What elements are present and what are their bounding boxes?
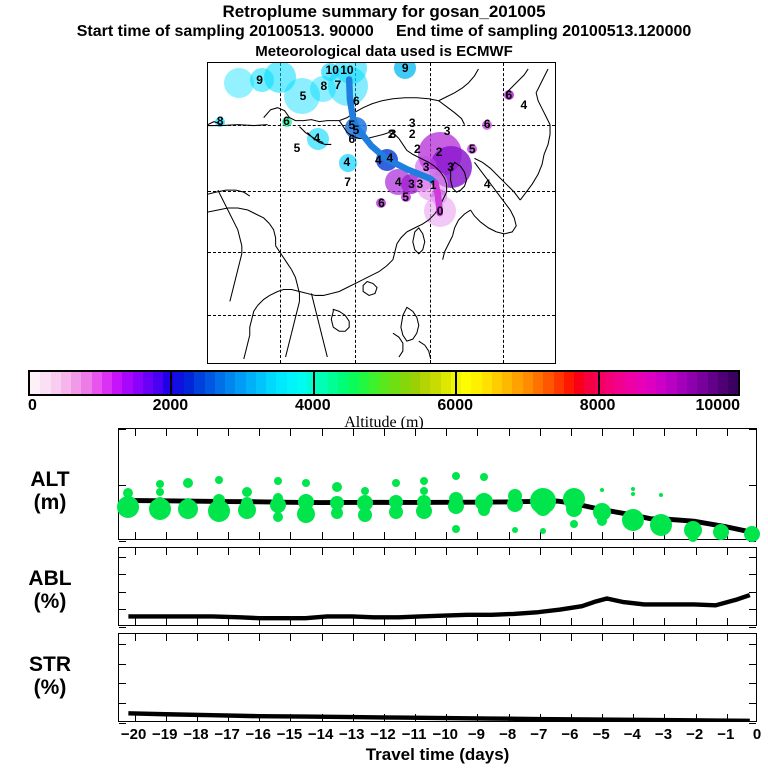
colorbar-cell <box>51 372 61 394</box>
map-day-label: 5 <box>300 90 307 102</box>
x-tick-top <box>509 429 510 436</box>
x-tick <box>166 618 167 625</box>
map-day-label: 4 <box>375 154 382 166</box>
colorbar-cell <box>194 372 204 394</box>
trajectory-line <box>208 63 555 363</box>
colorbar-tick-label: 2000 <box>153 397 189 415</box>
y-tick-right <box>749 574 756 575</box>
map-day-label: 6 <box>378 197 385 209</box>
colorbar-cell <box>317 372 327 394</box>
colorbar-cell <box>461 372 471 394</box>
alt-bubble <box>297 505 315 523</box>
alt-bubble <box>570 520 578 528</box>
x-tick <box>477 532 478 539</box>
alt-plot-panel[interactable]: 0500010000 <box>118 428 757 540</box>
alt-bubble <box>622 509 644 531</box>
colorbar-cell <box>287 372 297 394</box>
x-tick-top <box>197 634 198 641</box>
alt-bubble <box>600 488 604 492</box>
map-day-label: 3 <box>390 128 397 140</box>
x-tick-top <box>384 429 385 436</box>
alt-bubble <box>512 527 518 533</box>
alt-bubble <box>478 504 490 516</box>
y-tick <box>119 485 126 486</box>
alt-bubble <box>332 482 342 492</box>
colorbar-cell <box>543 372 553 394</box>
str-row-label: STR (%) <box>8 653 92 699</box>
x-tick <box>353 618 354 625</box>
x-tick <box>166 532 167 539</box>
x-axis-tick-label: −6 <box>561 726 578 743</box>
y-tick <box>119 557 126 558</box>
x-tick <box>290 714 291 721</box>
x-tick <box>540 618 541 625</box>
map-day-label: 2 <box>409 128 416 140</box>
alt-bubble <box>448 498 464 514</box>
x-tick <box>509 618 510 625</box>
x-tick-top <box>166 548 167 555</box>
title-block: Retroplume summary for gosan_201005 Star… <box>0 2 768 61</box>
map-day-label: 3 <box>408 178 415 190</box>
x-axis-tick-label: −9 <box>468 726 485 743</box>
map-day-label: 4 <box>344 156 351 168</box>
colorbar-cell <box>728 372 738 394</box>
x-tick <box>509 532 510 539</box>
x-tick <box>664 618 665 625</box>
x-tick-top <box>540 548 541 555</box>
map-day-label: 5 <box>402 191 409 203</box>
map-day-label: 9 <box>256 74 263 86</box>
colorbar-cell <box>410 372 420 394</box>
retroplume-map[interactable]: 9101087569865564544473232322335664433156… <box>207 62 556 364</box>
x-tick-top <box>509 548 510 555</box>
colorbar-cell <box>482 372 492 394</box>
map-day-label: 8 <box>217 115 224 127</box>
x-tick-top <box>384 634 385 641</box>
x-tick <box>602 532 603 539</box>
x-tick-top <box>664 429 665 436</box>
colorbar-cell <box>492 372 502 394</box>
x-tick <box>664 714 665 721</box>
colorbar-cell <box>554 372 564 394</box>
colorbar-cell <box>646 372 656 394</box>
x-tick-top <box>290 634 291 641</box>
x-axis-tick-label: −15 <box>277 726 302 743</box>
x-tick-top <box>259 548 260 555</box>
x-tick <box>197 618 198 625</box>
x-tick-top <box>540 429 541 436</box>
colorbar-cell <box>143 372 153 394</box>
colorbar-cell <box>708 372 718 394</box>
x-tick-top <box>727 429 728 436</box>
x-tick <box>602 618 603 625</box>
colorbar-cell <box>256 372 266 394</box>
map-day-label: 1 <box>430 179 437 191</box>
colorbar-cell <box>687 372 697 394</box>
y-tick <box>119 541 126 542</box>
colorbar-cell <box>71 372 81 394</box>
y-tick-right <box>749 664 756 665</box>
alt-bubble <box>242 487 252 497</box>
x-axis-tick-label: −7 <box>530 726 547 743</box>
colorbar-cell <box>400 372 410 394</box>
alt-bubble <box>540 528 546 534</box>
x-tick <box>633 714 634 721</box>
y-tick <box>119 429 126 430</box>
x-tick <box>696 618 697 625</box>
x-tick-top <box>166 429 167 436</box>
colorbar-cell <box>636 372 646 394</box>
map-day-label: 5 <box>469 143 476 155</box>
x-tick <box>135 532 136 539</box>
map-day-label: 4 <box>386 152 393 164</box>
x-axis-tick-label: −2 <box>686 726 703 743</box>
x-tick <box>477 714 478 721</box>
alt-bubble <box>688 532 698 542</box>
x-tick <box>727 714 728 721</box>
y-tick-right <box>749 609 756 610</box>
colorbar-cell <box>235 372 245 394</box>
x-tick <box>228 714 229 721</box>
x-tick-top <box>290 429 291 436</box>
x-tick <box>540 714 541 721</box>
x-axis-tick-labels: −20−19−18−17−16−15−14−13−12−11−10−9−8−7−… <box>118 726 757 746</box>
page-title: Retroplume summary for gosan_201005 <box>0 2 768 22</box>
map-day-label: 2 <box>436 146 443 158</box>
x-axis-tick-label: −12 <box>370 726 395 743</box>
alt-bubble <box>416 503 432 519</box>
x-tick-top <box>477 429 478 436</box>
map-day-label: 2 <box>414 143 421 155</box>
alt-bubble <box>117 496 139 518</box>
x-tick-top <box>540 634 541 641</box>
colorbar-cell <box>389 372 399 394</box>
x-tick-top <box>477 634 478 641</box>
x-tick-top <box>135 634 136 641</box>
alt-bubble <box>273 512 283 522</box>
x-tick-top <box>509 634 510 641</box>
colorbar-tick-label: 6000 <box>437 397 473 415</box>
colorbar-cell <box>420 372 430 394</box>
x-axis-tick-label: −3 <box>655 726 672 743</box>
y-tick-right <box>749 723 756 724</box>
x-tick <box>415 618 416 625</box>
y-tick-right <box>749 485 756 486</box>
colorbar-separator <box>170 370 172 396</box>
colorbar-cell <box>153 372 163 394</box>
map-day-label: 8 <box>321 80 328 92</box>
alt-bubble <box>238 501 256 519</box>
x-tick <box>322 532 323 539</box>
colorbar-cell <box>677 372 687 394</box>
alt-bubble <box>392 479 400 487</box>
x-tick-top <box>353 429 354 436</box>
x-tick-top <box>415 548 416 555</box>
x-tick <box>228 618 229 625</box>
x-tick <box>228 532 229 539</box>
alt-bubble <box>713 524 729 540</box>
colorbar-cell <box>379 372 389 394</box>
alt-bubble <box>302 479 310 487</box>
colorbar-tick-label: 4000 <box>295 397 331 415</box>
x-tick <box>290 532 291 539</box>
alt-bubble <box>420 487 428 495</box>
alt-bubble <box>566 501 582 517</box>
alt-bubble <box>650 514 672 536</box>
alt-bubble <box>480 473 488 481</box>
alt-bubble <box>659 493 663 497</box>
abl-polyline <box>128 595 749 618</box>
colorbar-cell <box>266 372 276 394</box>
alt-bubble <box>270 497 286 513</box>
alt-bubble <box>631 492 635 496</box>
x-tick-top <box>571 429 572 436</box>
map-day-label: 3 <box>447 161 454 173</box>
alt-bubble <box>178 499 198 519</box>
alt-bubble <box>597 516 607 526</box>
alt-bubble <box>149 498 171 520</box>
colorbar-cell <box>471 372 481 394</box>
colorbar-cell <box>369 372 379 394</box>
x-tick <box>571 618 572 625</box>
x-axis-tick-label: −16 <box>246 726 271 743</box>
x-tick-top <box>166 634 167 641</box>
x-tick <box>166 714 167 721</box>
colorbar-cell <box>328 372 338 394</box>
alt-bubble <box>389 505 403 519</box>
colorbar-cell <box>215 372 225 394</box>
colorbar-cell <box>297 372 307 394</box>
colorbar-cell <box>92 372 102 394</box>
x-tick <box>384 618 385 625</box>
y-tick-right <box>749 429 756 430</box>
colorbar-cell <box>605 372 615 394</box>
colorbar-cell <box>359 372 369 394</box>
x-tick <box>384 532 385 539</box>
x-axis-tick-label: −8 <box>499 726 516 743</box>
colorbar-separator <box>598 370 600 396</box>
x-tick <box>384 714 385 721</box>
meteorological-data-line: Meteorological data used is ECMWF <box>0 42 768 61</box>
x-tick-top <box>446 429 447 436</box>
str-polyline <box>128 713 749 721</box>
x-tick <box>259 532 260 539</box>
x-axis-tick-label: −11 <box>402 726 427 743</box>
x-tick-top <box>259 634 260 641</box>
colorbar-cell <box>523 372 533 394</box>
alt-bubble <box>452 472 460 480</box>
colorbar-cell <box>40 372 50 394</box>
x-tick-top <box>477 548 478 555</box>
x-tick <box>135 714 136 721</box>
colorbar-tick-label: 0 <box>28 397 37 415</box>
x-tick-top <box>602 429 603 436</box>
x-tick-top <box>696 429 697 436</box>
x-tick-top <box>322 429 323 436</box>
colorbar-tick-label: 10000 <box>696 397 741 415</box>
colorbar-cell <box>512 372 522 394</box>
colorbar-cell <box>441 372 451 394</box>
colorbar-cell <box>718 372 728 394</box>
y-tick-right <box>749 703 756 704</box>
y-tick-right <box>749 644 756 645</box>
x-tick-top <box>135 548 136 555</box>
x-tick-top <box>727 548 728 555</box>
x-axis-tick-label: −19 <box>152 726 177 743</box>
alt-bubble <box>361 487 369 495</box>
colorbar-separator <box>455 370 457 396</box>
x-tick-top <box>633 548 634 555</box>
y-tick <box>119 703 126 704</box>
colorbar-cell <box>656 372 666 394</box>
x-tick-top <box>664 634 665 641</box>
map-day-label: 7 <box>344 176 351 188</box>
alt-bubble <box>420 477 428 485</box>
x-axis-tick-label: −5 <box>593 726 610 743</box>
colorbar-cell <box>584 372 594 394</box>
x-tick <box>446 532 447 539</box>
x-tick <box>135 618 136 625</box>
x-tick <box>696 714 697 721</box>
x-tick <box>571 714 572 721</box>
colorbar-cell <box>595 372 605 394</box>
x-axis-tick-label: −1 <box>717 726 734 743</box>
alt-bubble <box>183 478 193 488</box>
alt-bubble <box>274 477 282 485</box>
x-tick-top <box>446 548 447 555</box>
x-tick <box>602 714 603 721</box>
colorbar-cell <box>122 372 132 394</box>
x-tick-top <box>571 634 572 641</box>
y-tick <box>119 644 126 645</box>
alt-bubble <box>452 525 460 533</box>
x-tick <box>259 714 260 721</box>
y-tick <box>119 683 126 684</box>
x-tick-top <box>197 548 198 555</box>
y-tick <box>119 664 126 665</box>
x-tick <box>727 618 728 625</box>
x-tick <box>197 714 198 721</box>
x-tick-top <box>228 634 229 641</box>
y-tick <box>119 627 126 628</box>
colorbar-cell <box>276 372 286 394</box>
str-plot-panel[interactable]: 020406080 <box>118 633 757 722</box>
colorbar-cell <box>348 372 358 394</box>
x-tick-top <box>384 548 385 555</box>
x-tick-top <box>664 548 665 555</box>
colorbar-cell <box>81 372 91 394</box>
x-tick-top <box>322 548 323 555</box>
alt-bubble <box>507 496 523 512</box>
map-day-label: 3 <box>416 178 423 190</box>
y-tick <box>119 723 126 724</box>
map-day-label: 6 <box>348 133 355 145</box>
colorbar-cell <box>61 372 71 394</box>
colorbar-separator <box>313 370 315 396</box>
alt-bubble <box>156 488 164 496</box>
y-tick <box>119 592 126 593</box>
colorbar-cell <box>102 372 112 394</box>
x-tick <box>322 618 323 625</box>
x-tick-top <box>633 429 634 436</box>
x-tick-top <box>446 634 447 641</box>
map-day-label: 3 <box>444 125 451 137</box>
x-tick-top <box>353 548 354 555</box>
y-tick-right <box>749 557 756 558</box>
map-day-label: 6 <box>353 95 360 107</box>
colorbar-gradient <box>28 370 740 396</box>
map-day-label: 0 <box>437 205 444 217</box>
alt-bubble <box>631 487 635 491</box>
x-tick-top <box>135 429 136 436</box>
x-tick-top <box>259 429 260 436</box>
colorbar-cell <box>30 372 40 394</box>
colorbar-cell <box>574 372 584 394</box>
x-axis-tick-label: −20 <box>121 726 146 743</box>
x-tick <box>633 532 634 539</box>
colorbar-cell <box>246 372 256 394</box>
y-tick-right <box>749 627 756 628</box>
x-axis-tick-label: −10 <box>433 726 458 743</box>
map-day-label: 6 <box>484 118 491 130</box>
x-tick <box>259 618 260 625</box>
map-day-label: 7 <box>334 79 341 91</box>
y-tick <box>119 574 126 575</box>
x-tick-top <box>602 634 603 641</box>
map-day-label: 6 <box>283 115 290 127</box>
alt-row-label: ALT (m) <box>8 468 92 514</box>
colorbar-cell <box>615 372 625 394</box>
x-tick-top <box>228 429 229 436</box>
x-tick <box>571 532 572 539</box>
x-axis-tick-label: −17 <box>214 726 239 743</box>
abl-plot-panel[interactable]: 020406080 <box>118 547 757 626</box>
trajectory-path <box>349 79 440 213</box>
alt-bubble <box>744 526 760 542</box>
str-series-line <box>119 634 756 721</box>
colorbar-cell <box>205 372 215 394</box>
x-tick-top <box>228 548 229 555</box>
x-axis-title: Travel time (days) <box>118 745 757 765</box>
colorbar-cell <box>174 372 184 394</box>
x-axis-tick-label: −14 <box>308 726 333 743</box>
alt-bubble <box>215 476 223 484</box>
x-tick <box>353 532 354 539</box>
x-tick <box>509 714 510 721</box>
x-tick <box>633 618 634 625</box>
colorbar-cell <box>502 372 512 394</box>
map-day-label: 4 <box>521 99 528 111</box>
colorbar-cell <box>697 372 707 394</box>
x-tick-top <box>353 634 354 641</box>
x-tick <box>477 618 478 625</box>
map-day-label: 9 <box>402 62 409 74</box>
x-tick-top <box>696 634 697 641</box>
map-day-label: 4 <box>484 178 491 190</box>
map-day-label: 3 <box>423 161 430 173</box>
colorbar-cell <box>564 372 574 394</box>
alt-bubble <box>331 507 343 519</box>
x-tick-top <box>197 429 198 436</box>
colorbar-cell <box>625 372 635 394</box>
x-tick <box>415 532 416 539</box>
x-tick <box>290 618 291 625</box>
map-inner: 9101087569865564544473232322335664433156… <box>208 63 555 363</box>
alt-bubble <box>358 508 372 522</box>
colorbar-altitude[interactable]: 0200040006000800010000 Altitude (m) <box>28 370 740 396</box>
x-axis-tick-label: −4 <box>624 726 641 743</box>
abl-series-line <box>119 548 756 625</box>
